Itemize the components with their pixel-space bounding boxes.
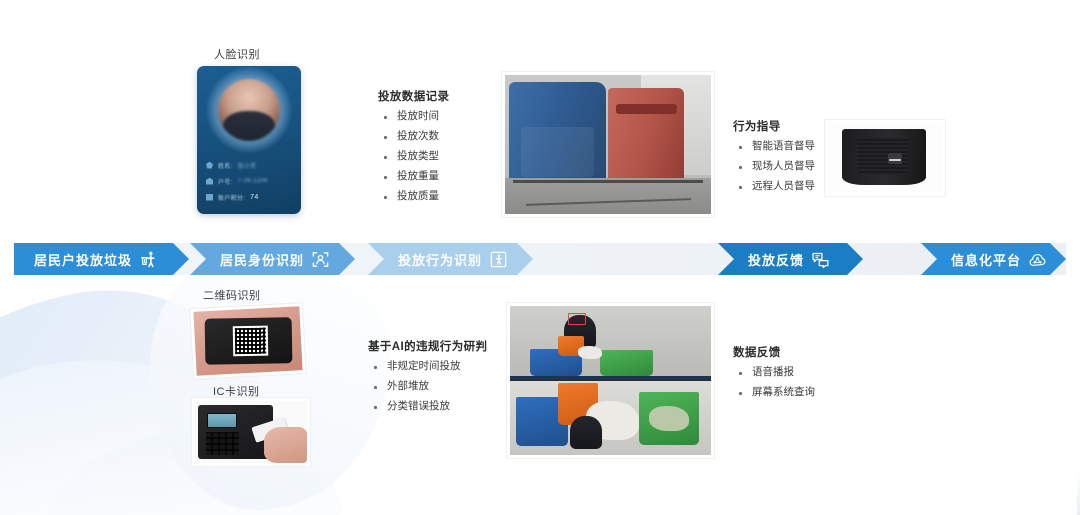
process-step-label: 投放反馈 bbox=[748, 250, 804, 269]
list-item: 投放时间 bbox=[378, 111, 449, 122]
ic-card-reader-photo bbox=[192, 398, 310, 466]
background-blob-light bbox=[150, 250, 390, 510]
data-record-list: 投放时间 投放次数 投放类型 投放重量 投放质量 bbox=[378, 111, 449, 202]
cctv-divider bbox=[510, 376, 711, 380]
slide-canvas: 人脸识别 姓名: 张小芳 户号: 7-26-1206 账户积分: 74 投放数据… bbox=[0, 0, 1080, 515]
list-item: 语音播报 bbox=[733, 367, 815, 378]
card-row-value: 7-26-1206 bbox=[238, 178, 268, 184]
speaker-device-photo bbox=[825, 120, 945, 196]
reader-keypad bbox=[206, 432, 239, 455]
process-step-identity-recognition[interactable]: 居民身份识别 bbox=[190, 243, 355, 275]
process-step-label: 投放行为识别 bbox=[398, 250, 482, 269]
id-person-frame-icon bbox=[311, 250, 330, 269]
home-icon bbox=[206, 178, 213, 185]
green-bin bbox=[600, 350, 652, 376]
list-item: 远程人员督导 bbox=[733, 181, 815, 192]
data-record-block: 投放数据记录 投放时间 投放次数 投放类型 投放重量 投放质量 bbox=[378, 88, 449, 211]
person-throwing-frame-icon bbox=[489, 250, 508, 269]
card-info-rows: 姓名: 张小芳 户号: 7-26-1206 账户积分: 74 bbox=[197, 160, 301, 208]
list-item: 现场人员督导 bbox=[733, 161, 815, 172]
list-item: 投放质量 bbox=[378, 191, 449, 202]
qr-recognition-caption: 二维码识别 bbox=[203, 287, 261, 303]
process-step-label: 居民身份识别 bbox=[220, 250, 304, 269]
qr-phone-photo bbox=[190, 303, 306, 379]
points-icon bbox=[206, 194, 213, 201]
card-row-points: 账户积分: 74 bbox=[206, 192, 292, 202]
list-item: 非规定时间投放 bbox=[368, 361, 487, 372]
list-item: 投放次数 bbox=[378, 131, 449, 142]
speaker-badge bbox=[888, 153, 902, 164]
data-feedback-block: 数据反馈 语音播报 屏幕系统查询 bbox=[733, 344, 815, 407]
speaker-body bbox=[842, 129, 926, 185]
hand bbox=[264, 427, 307, 463]
face-recognition-card: 姓名: 张小芳 户号: 7-26-1206 账户积分: 74 bbox=[197, 66, 301, 214]
card-row-name: 姓名: 张小芳 bbox=[206, 160, 292, 170]
process-step-behavior-recognition[interactable]: 投放行为识别 bbox=[368, 243, 533, 275]
blue-bin bbox=[509, 82, 606, 190]
phone-device bbox=[204, 317, 292, 365]
person-icon bbox=[206, 162, 213, 169]
list-item: 外部堆放 bbox=[368, 381, 487, 392]
list-item: 投放类型 bbox=[378, 151, 449, 162]
card-row-label: 账户积分: bbox=[218, 193, 245, 202]
card-row-label: 户号: bbox=[218, 177, 233, 186]
ai-judgement-block: 基于AI的违规行为研判 非规定时间投放 外部堆放 分类错误投放 bbox=[368, 338, 487, 421]
qr-code bbox=[232, 326, 267, 356]
behavior-guide-list: 智能语音督导 现场人员督导 远程人员督导 bbox=[733, 141, 815, 192]
data-feedback-list: 语音播报 屏幕系统查询 bbox=[733, 367, 815, 398]
speech-bubbles-icon bbox=[811, 250, 830, 269]
trash-bins-photo bbox=[502, 72, 714, 217]
card-row-household: 户号: 7-26-1206 bbox=[206, 176, 292, 186]
face-recognition-caption: 人脸识别 bbox=[214, 46, 260, 62]
process-step-label: 信息化平台 bbox=[951, 250, 1021, 269]
garbage-bag bbox=[649, 406, 689, 431]
avatar bbox=[218, 79, 280, 141]
garbage-bag bbox=[578, 346, 602, 359]
process-flow-bar: 居民户投放垃圾 居民身份识别 bbox=[14, 243, 1066, 275]
data-feedback-title: 数据反馈 bbox=[733, 344, 815, 360]
reader-screen bbox=[207, 413, 237, 427]
photo-rail bbox=[513, 180, 703, 183]
list-item: 屏幕系统查询 bbox=[733, 387, 815, 398]
cloud-network-icon bbox=[1028, 250, 1047, 269]
process-step-label: 居民户投放垃圾 bbox=[34, 250, 132, 269]
cctv-pane-top bbox=[510, 306, 711, 378]
list-item: 分类错误投放 bbox=[368, 401, 487, 412]
process-step-information-platform[interactable]: 信息化平台 bbox=[921, 243, 1066, 275]
list-item: 投放重量 bbox=[378, 171, 449, 182]
process-step-resident-dispose[interactable]: 居民户投放垃圾 bbox=[14, 243, 189, 275]
cctv-pane-bottom bbox=[510, 381, 711, 456]
cctv-surveillance-photo bbox=[507, 303, 714, 458]
card-row-value: 张小芳 bbox=[238, 161, 257, 170]
data-record-title: 投放数据记录 bbox=[378, 88, 449, 104]
ai-judgement-title: 基于AI的违规行为研判 bbox=[368, 338, 487, 354]
person bbox=[570, 416, 602, 449]
process-step-feedback[interactable]: 投放反馈 bbox=[718, 243, 863, 275]
red-bin bbox=[608, 88, 684, 188]
ic-card-caption: IC卡识别 bbox=[213, 383, 260, 399]
card-row-label: 姓名: bbox=[218, 161, 233, 170]
ai-judgement-list: 非规定时间投放 外部堆放 分类错误投放 bbox=[368, 361, 487, 412]
behavior-guide-block: 行为指导 智能语音督导 现场人员督导 远程人员督导 bbox=[733, 118, 815, 201]
detection-box bbox=[568, 313, 586, 324]
list-item: 智能语音督导 bbox=[733, 141, 815, 152]
behavior-guide-title: 行为指导 bbox=[733, 118, 815, 134]
card-row-value: 74 bbox=[250, 194, 258, 201]
person-with-bin-icon bbox=[139, 250, 158, 269]
